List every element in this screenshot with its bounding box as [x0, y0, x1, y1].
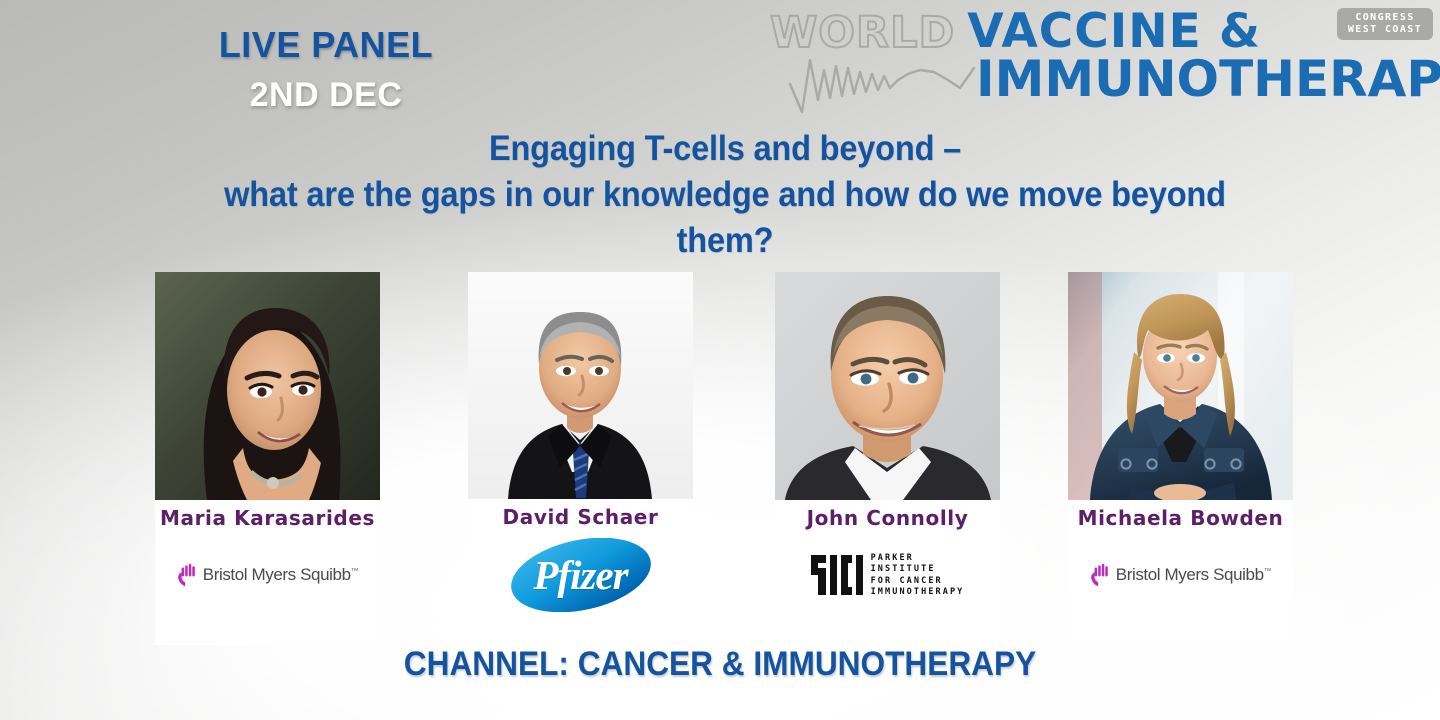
- congress-west-coast-badge: CONGRESS WEST COAST: [1337, 8, 1433, 40]
- presentation-slide: WORLDVACCINE & IMMUNOTHERAPY CONGRESS WE…: [0, 0, 1440, 720]
- pici-monogram-icon: [811, 555, 863, 595]
- speaker-name: Maria Karasarides: [155, 506, 380, 530]
- pici-line-1: PARKER: [871, 553, 965, 563]
- bms-wordmark: Bristol Myers Squibb™: [203, 565, 359, 585]
- logo-line-2: IMMUNOTHERAPY: [770, 54, 1440, 104]
- speaker-card: Michaela Bowden Bristol Myers Squibb™: [1068, 272, 1293, 645]
- pici-line-4: IMMUNOTHERAPY: [871, 587, 965, 597]
- speaker-photo: [775, 272, 1000, 500]
- affiliation-logo-bristol-myers-squibb: Bristol Myers Squibb™: [155, 544, 380, 606]
- badge-line-west-coast: WEST COAST: [1348, 25, 1422, 36]
- logo-word-immunotherapy: IMMUNOTHERAPY: [976, 54, 1440, 104]
- speaker-name: David Schaer: [468, 505, 693, 529]
- speaker-card: John Connolly: [775, 272, 1000, 645]
- title-line-3: them?: [190, 218, 1260, 264]
- speaker-card: Maria Karasarides Bristol Myers Squibb™: [155, 272, 380, 645]
- pici-line-3: FOR CANCER: [871, 576, 965, 586]
- speaker-panel-list: Maria Karasarides Bristol Myers Squibb™: [0, 272, 1440, 652]
- channel-footer: CHANNEL: CANCER & IMMUNOTHERAPY: [50, 645, 1389, 684]
- bms-hand-icon: [177, 563, 196, 587]
- affiliation-logo-bristol-myers-squibb: Bristol Myers Squibb™: [1068, 544, 1293, 606]
- speaker-name: John Connolly: [775, 506, 1000, 530]
- pici-wordmark: PARKER INSTITUTE FOR CANCER IMMUNOTHERAP…: [871, 553, 965, 596]
- speaker-photo: [1068, 272, 1293, 500]
- logo-word-world: WORLD: [770, 12, 955, 55]
- bms-wordmark: Bristol Myers Squibb™: [1116, 565, 1272, 585]
- speaker-name: Michaela Bowden: [1068, 506, 1293, 530]
- live-panel-date: 2ND DEC: [186, 76, 466, 115]
- badge-line-congress: CONGRESS: [1355, 13, 1414, 24]
- pici-line-2: INSTITUTE: [871, 564, 965, 574]
- logo-word-vaccine: VACCINE &: [967, 8, 1261, 55]
- bms-hand-icon: [1090, 563, 1109, 587]
- title-line-1: Engaging T-cells and beyond –: [190, 126, 1260, 172]
- speaker-photo: [468, 272, 693, 499]
- affiliation-logo-pici: PARKER INSTITUTE FOR CANCER IMMUNOTHERAP…: [775, 544, 1000, 606]
- speaker-card: David Schaer Pfizer: [468, 272, 693, 645]
- title-line-2: what are the gaps in our knowledge and h…: [190, 172, 1260, 218]
- event-logo: WORLDVACCINE & IMMUNOTHERAPY: [770, 2, 1430, 118]
- speaker-photo: [155, 272, 380, 500]
- live-panel-label: LIVE PANEL: [186, 24, 466, 66]
- logo-line-1: WORLDVACCINE &: [770, 8, 1261, 55]
- pfizer-wordmark: Pfizer: [508, 538, 654, 612]
- affiliation-logo-pfizer: Pfizer: [468, 544, 693, 606]
- page-title: Engaging T-cells and beyond – what are t…: [190, 126, 1260, 264]
